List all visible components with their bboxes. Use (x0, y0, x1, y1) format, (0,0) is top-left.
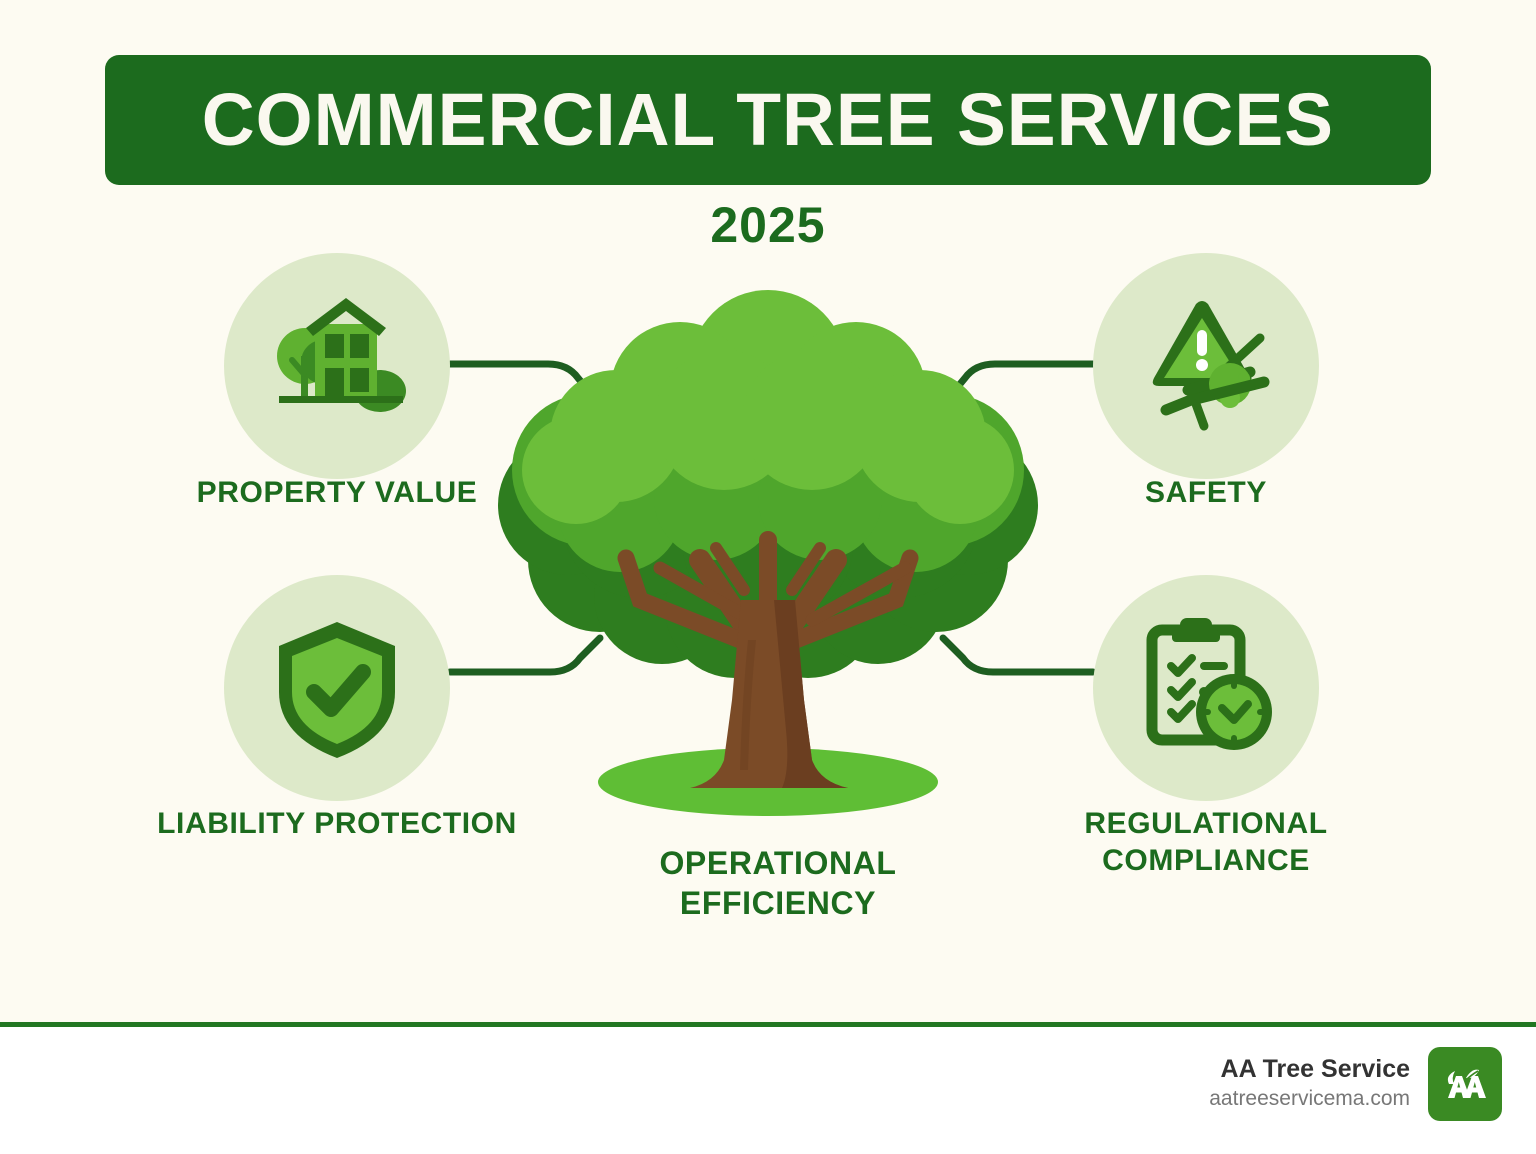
canopy-dark (498, 435, 1038, 678)
tree-branches (626, 540, 910, 660)
label-liability-protection: LIABILITY PROTECTION (137, 806, 537, 843)
node-liability-protection[interactable] (224, 575, 450, 801)
node-property-value[interactable] (224, 253, 450, 479)
connector-bottom-right (943, 638, 1093, 672)
title-bar: COMMERCIAL TREE SERVICES (105, 55, 1431, 185)
label-regulatory-compliance: REGULATIONAL COMPLIANCE (1006, 806, 1406, 879)
connector-bottom-left (450, 638, 600, 672)
house-with-tree-icon (257, 286, 417, 446)
clipboard-checklist-clock-icon (1126, 608, 1286, 768)
connector-top-left (450, 364, 597, 401)
trunk-texture (740, 640, 756, 770)
label-property-value: PROPERTY VALUE (137, 475, 537, 512)
label-safety: SAFETY (1006, 475, 1406, 512)
node-regulatory-compliance[interactable] (1093, 575, 1319, 801)
infographic-poster: COMMERCIAL TREE SERVICES 2025 (0, 0, 1536, 1154)
ground-ellipse (598, 748, 938, 816)
shield-check-icon (257, 608, 417, 768)
footer-brand: AA Tree Service aatreeservicema.com (1209, 1047, 1502, 1121)
center-label: OPERATIONAL EFFICIENCY (588, 843, 968, 923)
logo-aa-leaf-icon (1435, 1054, 1495, 1114)
canopy-mid (512, 352, 1024, 572)
trunk-shadow (774, 600, 848, 788)
tree-trunk (690, 600, 848, 788)
footer-divider (0, 1022, 1536, 1027)
company-website[interactable]: aatreeservicema.com (1209, 1085, 1410, 1113)
node-safety[interactable] (1093, 253, 1319, 479)
footer-text-block: AA Tree Service aatreeservicema.com (1209, 1054, 1410, 1114)
aa-tree-service-logo (1428, 1047, 1502, 1121)
company-name: AA Tree Service (1209, 1054, 1410, 1085)
page-title: COMMERCIAL TREE SERVICES (202, 83, 1334, 157)
connector-top-right (946, 364, 1093, 401)
warning-triangle-with-shears-icon (1126, 286, 1286, 446)
year-label: 2025 (0, 196, 1536, 254)
canopy-light (522, 290, 1014, 524)
